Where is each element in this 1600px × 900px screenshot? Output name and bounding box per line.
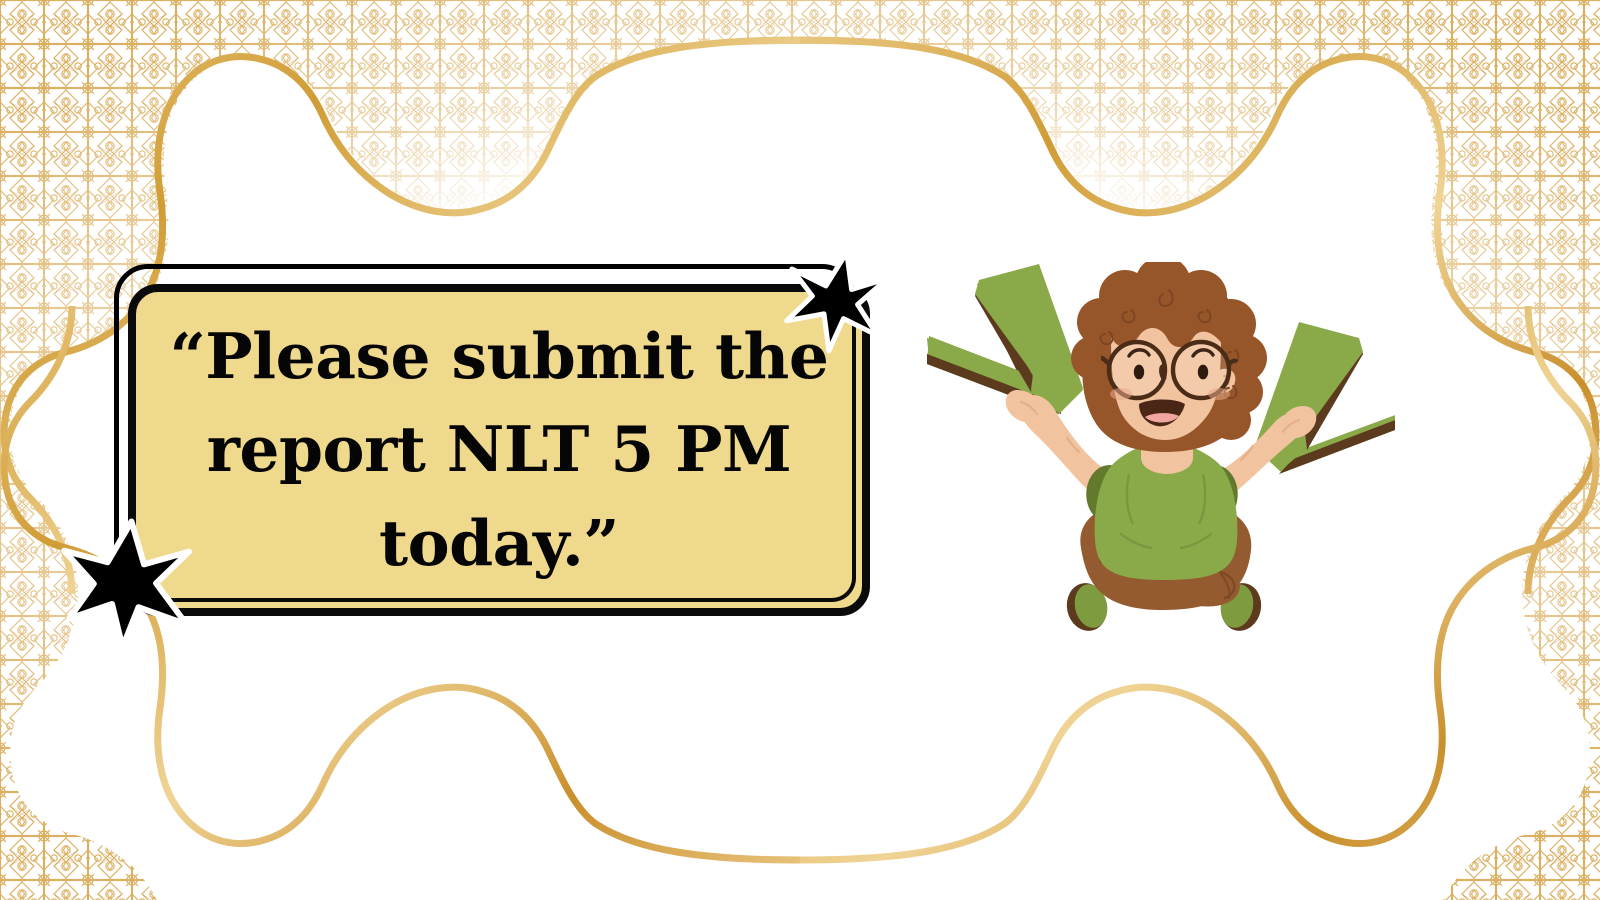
quote-text: “Please submit the report NLT 5 PM today… [130, 286, 868, 614]
left-check-block-icon [927, 264, 1083, 414]
slide-canvas: “Please submit the report NLT 5 PM today… [0, 0, 1600, 900]
sparkle-star-top-right [778, 245, 888, 355]
illustration-boy-holding-checkmark-blocks [925, 262, 1395, 652]
sparkle-star-bottom-left [60, 518, 200, 648]
quote-card: “Please submit the report NLT 5 PM today… [92, 258, 882, 628]
